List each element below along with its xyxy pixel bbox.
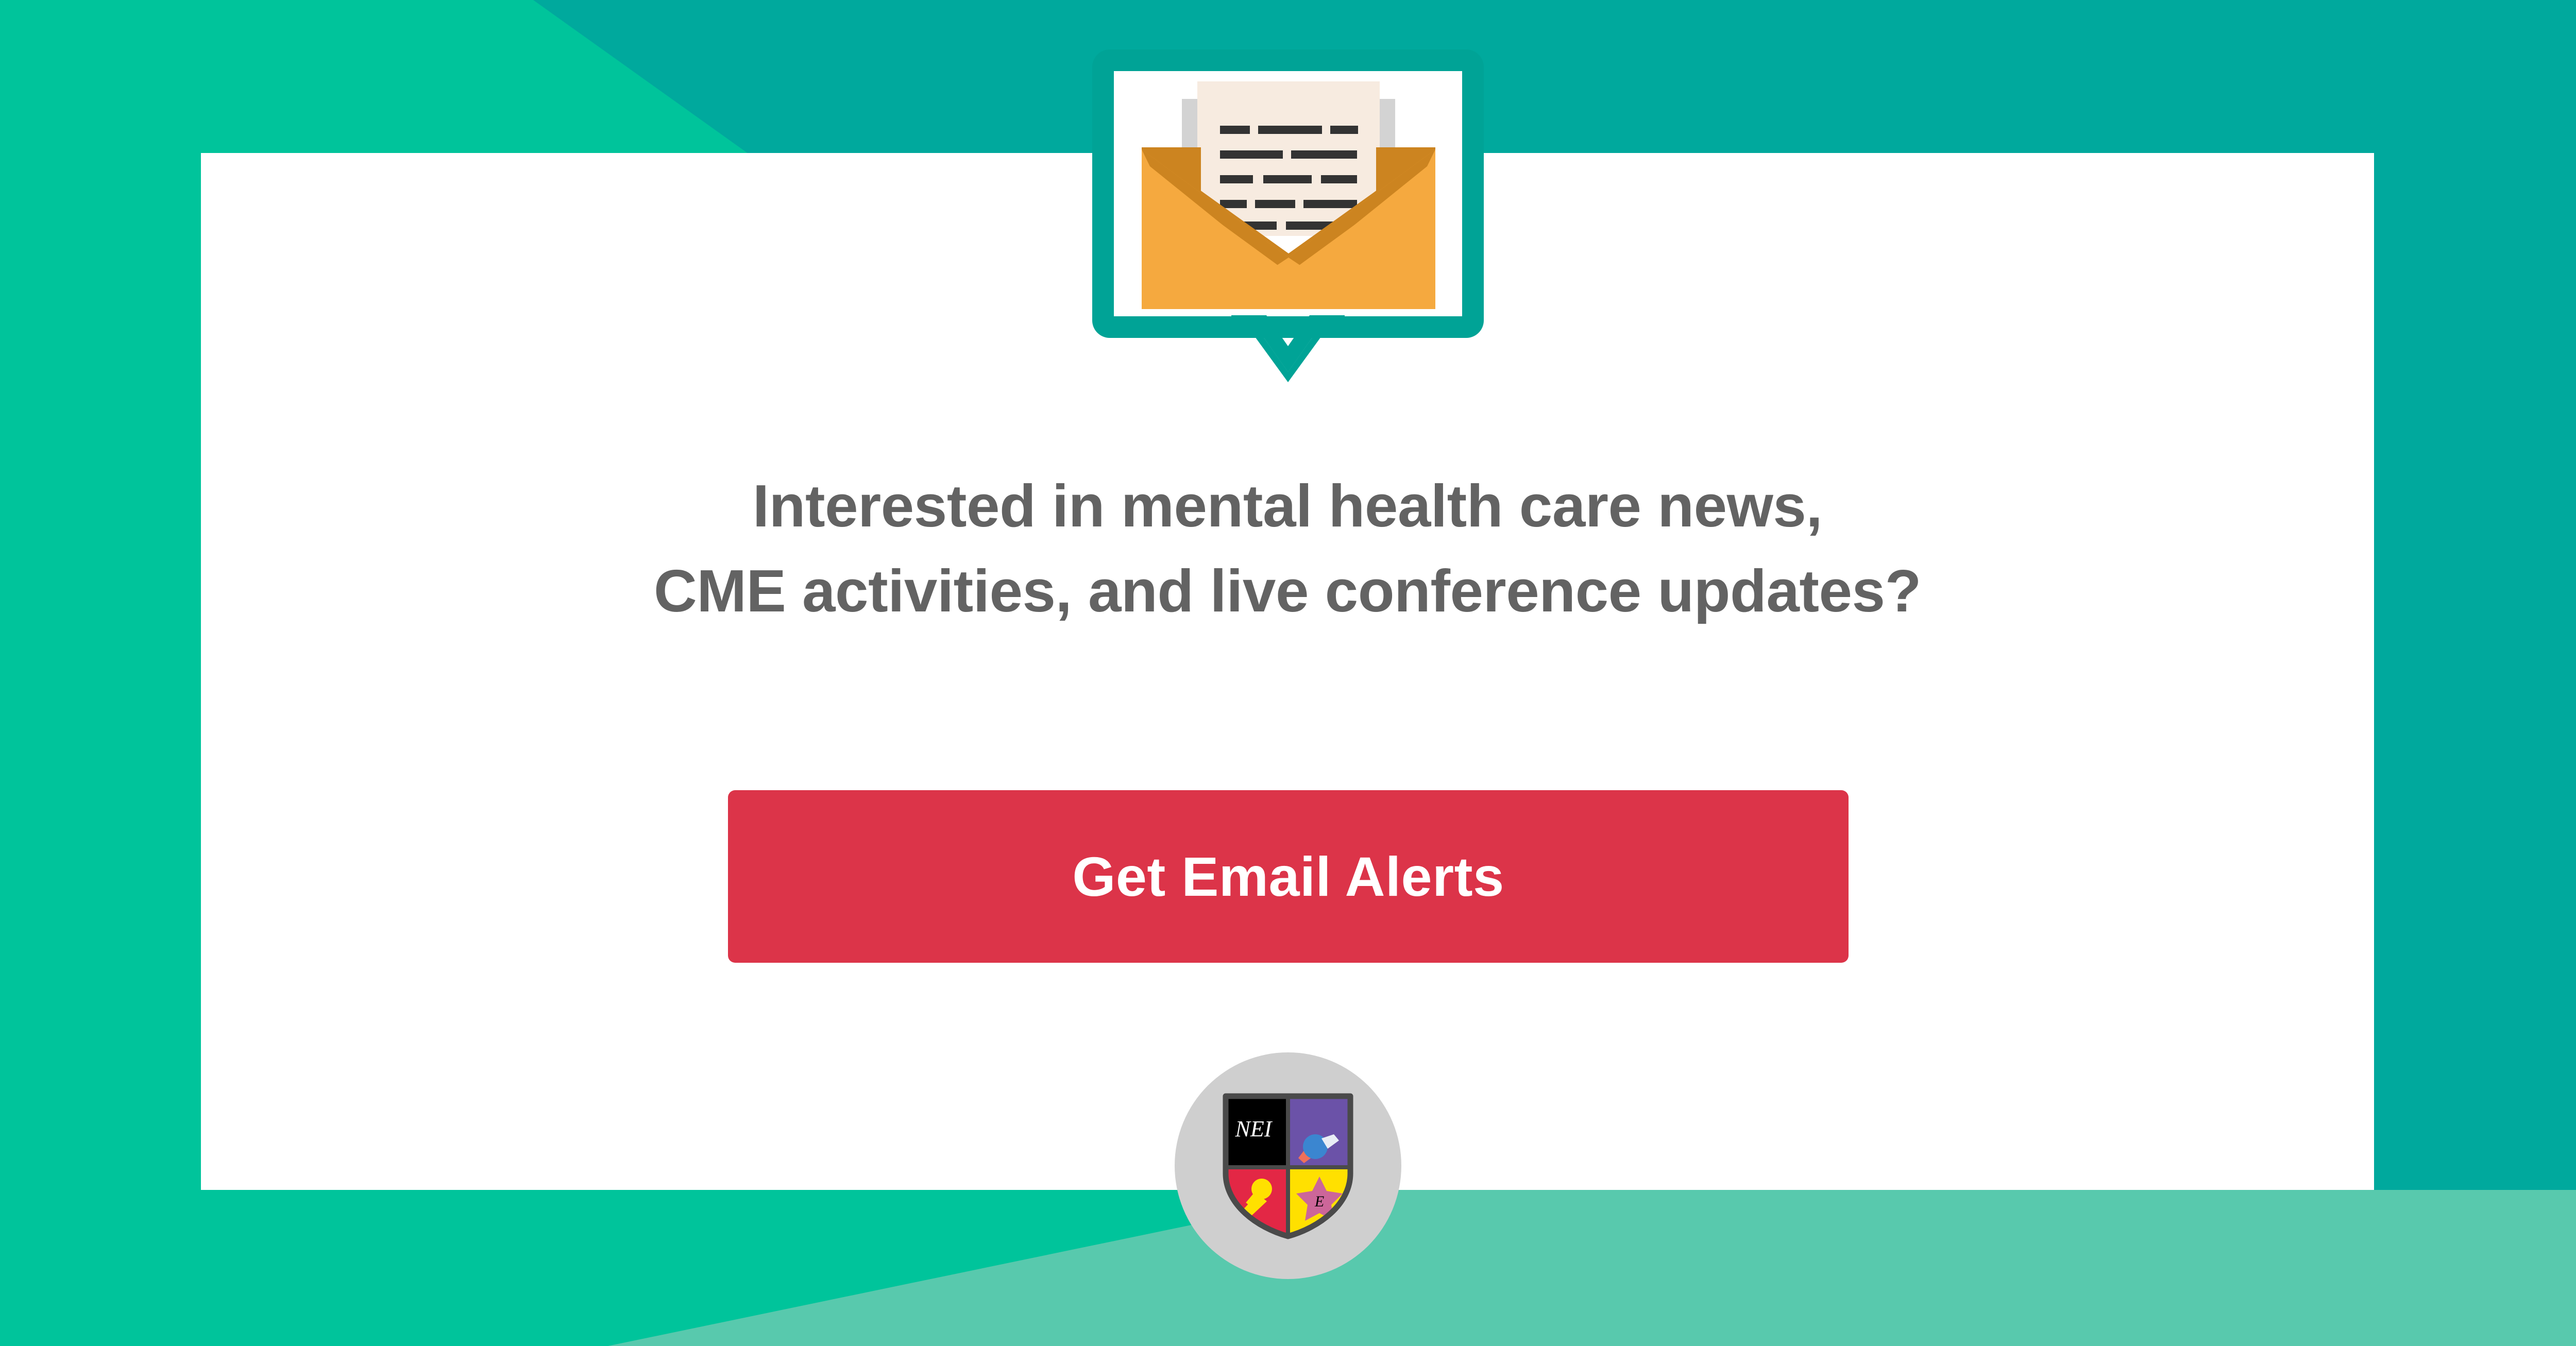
shield-star-letter: E [1314,1193,1324,1210]
nei-logo-badge[interactable]: NEI E [1175,1052,1401,1279]
page-title: Interested in mental health care news, C… [201,464,2374,633]
get-email-alerts-button[interactable]: Get Email Alerts [728,790,1849,963]
open-envelope-icon [1142,72,1435,309]
shield-nei-text: NEI [1235,1116,1273,1141]
nei-shield-icon: NEI E [1218,1091,1358,1240]
headline-line-1: Interested in mental health care news, [201,464,2374,549]
promo-banner-root: Interested in mental health care news, C… [0,0,2576,1346]
headline-line-2: CME activities, and live conference upda… [201,549,2374,634]
speech-bubble-tail-icon [1231,315,1345,403]
